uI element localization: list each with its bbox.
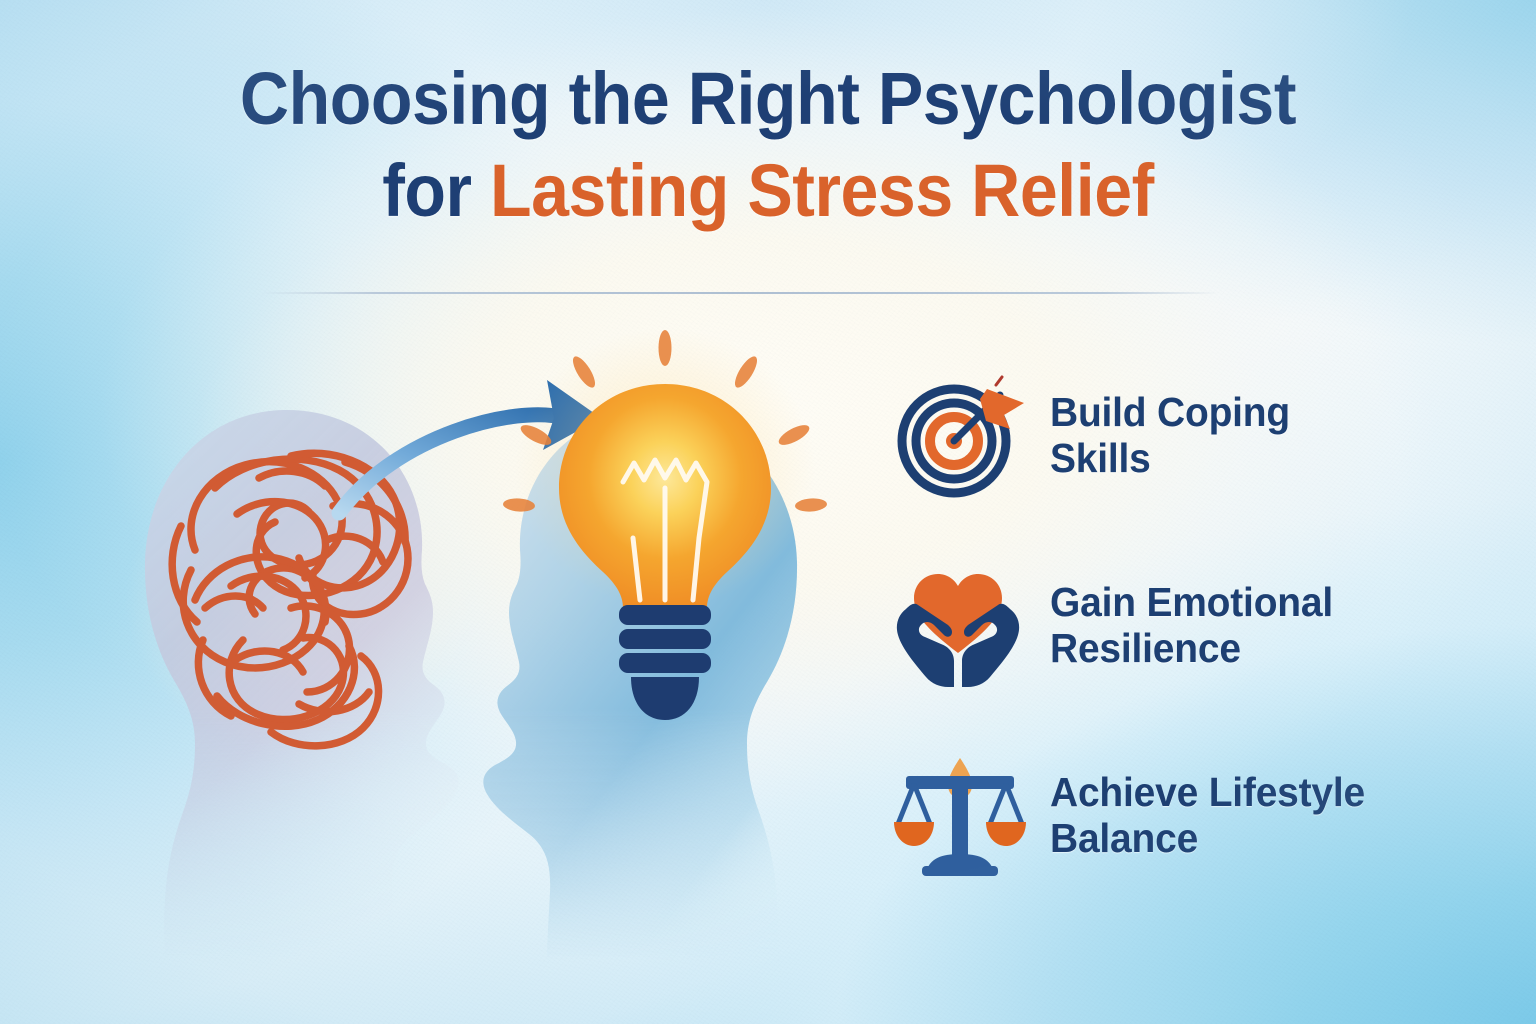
scale-post [952, 784, 968, 860]
page-title-line-2: for Lasting Stress Relief [61, 154, 1474, 228]
benefit-label-coping-skills: Build Coping Skills [1050, 390, 1290, 482]
hands-holding-heart-icon [886, 562, 1034, 690]
scale-pan-right [986, 822, 1026, 846]
title-highlight: Lasting Stress Relief [490, 149, 1154, 232]
benefit-label-emotional-resilience: Gain Emotional Resilience [1050, 580, 1333, 672]
benefit-item-lifestyle-balance[interactable]: Achieve Lifestyle Balance [886, 752, 1426, 880]
benefit-label-lifestyle-balance: Achieve Lifestyle Balance [1050, 770, 1365, 862]
balance-scale-icon [886, 752, 1034, 880]
title-divider [261, 292, 1219, 294]
title-prefix: for [382, 149, 490, 232]
title-block: Choosing the Right Psychologist for Last… [0, 62, 1536, 228]
benefit-item-emotional-resilience[interactable]: Gain Emotional Resilience [886, 562, 1426, 690]
page-title-line-1: Choosing the Right Psychologist [61, 62, 1474, 136]
stressed-head-silhouette [145, 410, 459, 960]
illustration-group [95, 300, 885, 960]
scale-pan-left [894, 822, 934, 846]
target-with-arrow-icon [886, 372, 1034, 500]
infographic-canvas: Choosing the Right Psychologist for Last… [0, 0, 1536, 1024]
benefit-item-coping-skills[interactable]: Build Coping Skills [886, 372, 1426, 500]
benefits-list: Build Coping Skills Gain Emotional Resil… [886, 372, 1426, 880]
